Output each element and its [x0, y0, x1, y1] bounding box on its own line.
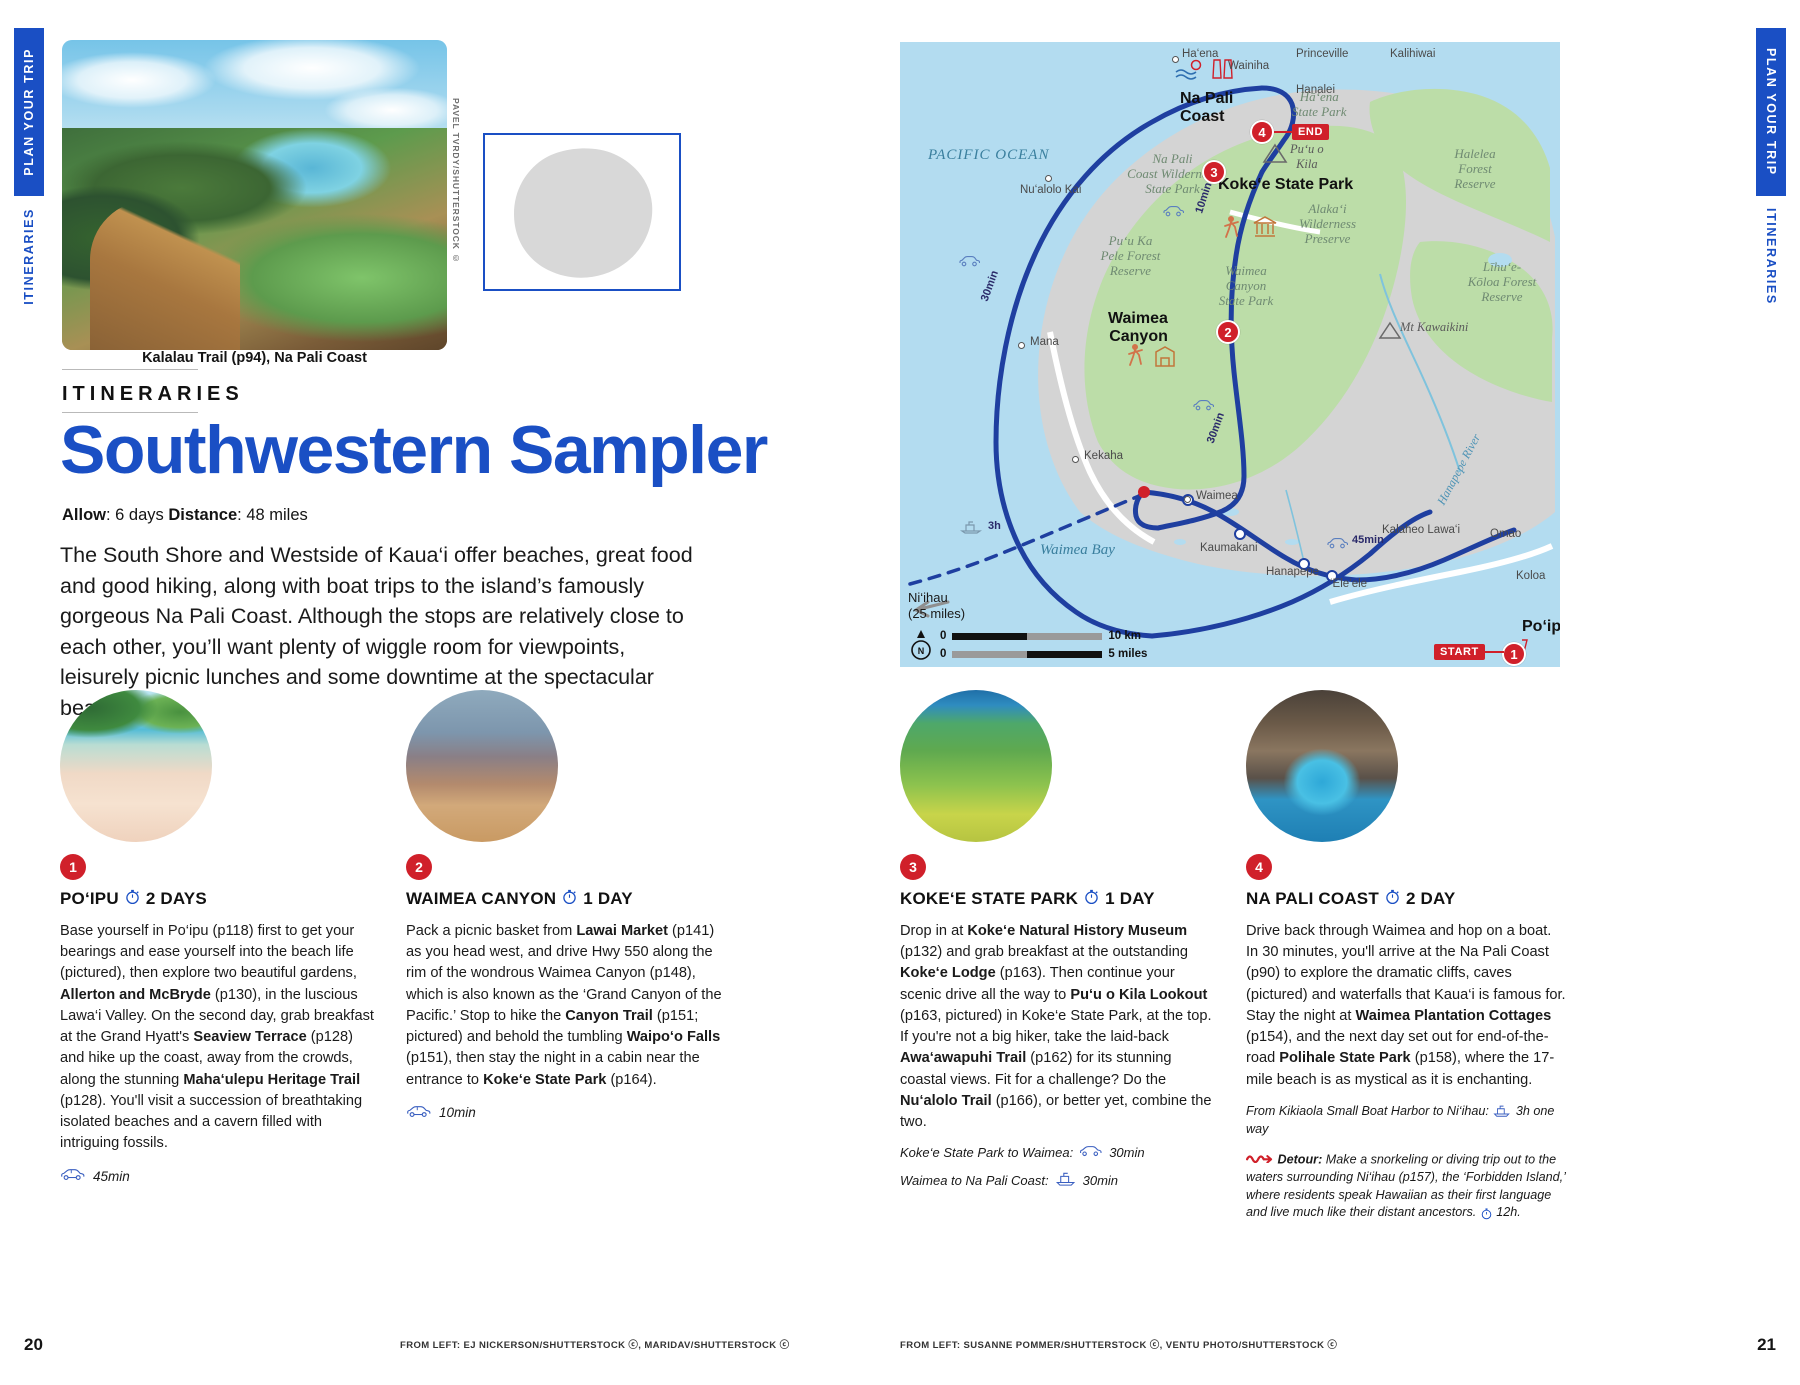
stop-duration-4: 2 DAY — [1406, 889, 1456, 909]
folio-right: 21 — [1757, 1335, 1776, 1355]
map-label-poipu: Po‘ipu — [1522, 618, 1560, 636]
map-town-omao: Omao — [1490, 528, 1521, 540]
stop-number-badge-2: 2 — [406, 854, 432, 880]
hiking-icon — [1220, 214, 1244, 240]
scale-bar-miles — [952, 651, 1102, 658]
car-icon — [406, 1105, 432, 1121]
boat-icon — [960, 520, 982, 534]
hero-photo-kalalau-trail — [62, 40, 447, 350]
town-dot — [1172, 56, 1179, 63]
map-stop-marker-4[interactable]: 4 — [1250, 120, 1274, 144]
map-niihau-note: Ni‘ihau (25 miles) — [908, 590, 965, 623]
side-tab-primary-label: PLAN YOUR TRIP — [22, 48, 36, 176]
transfer-label-3a: Koke‘e State Park to Waimea: — [900, 1145, 1073, 1160]
svg-text:N: N — [918, 646, 925, 656]
stop-name-4: NA PALI COAST — [1246, 889, 1379, 909]
map-town-wainiha: Wainiha — [1228, 60, 1269, 72]
stopwatch-icon — [561, 888, 578, 910]
map-town-princeville: Princeville — [1296, 48, 1348, 60]
stop-transfer-1: 45min — [60, 1168, 380, 1184]
map-label-halelea-forest-reserve: Halelea Forest Reserve — [1430, 147, 1520, 192]
map-stop-marker-3[interactable]: 3 — [1202, 160, 1226, 184]
map-town-kaumakani: Kaumakani — [1200, 542, 1258, 554]
transfer-value-3a: 30min — [1109, 1145, 1144, 1160]
stop-name-2: WAIMEA CANYON — [406, 889, 556, 909]
mountain-peak-icon — [1378, 320, 1402, 340]
stop-body-1: Base yourself in Po‘ipu (p118) first to … — [60, 921, 380, 1154]
stop-name-1: PO‘IPU — [60, 889, 119, 909]
map-town-kalihiwai: Kalihiwai — [1390, 48, 1435, 60]
map-scale-miles: 0 5 miles — [940, 648, 1147, 660]
side-tab-primary-right: PLAN YOUR TRIP — [1756, 28, 1786, 196]
stop-title-2: WAIMEA CANYON 1 DAY — [406, 888, 726, 910]
page-title: Southwestern Sampler — [60, 415, 820, 486]
town-dot — [1018, 342, 1025, 349]
right-page: PLAN YOUR TRIP ITINERARIES — [900, 0, 1800, 1385]
mountain-peak-icon — [1262, 142, 1288, 164]
boat-icon — [1055, 1172, 1077, 1189]
start-connector-line — [1478, 650, 1504, 654]
map-town-haena: Ha‘ena — [1182, 48, 1218, 60]
stops-left: 1 PO‘IPU 2 DAYS Base yourself in Po‘ipu … — [60, 690, 726, 1184]
stop-title-1: PO‘IPU 2 DAYS — [60, 888, 380, 910]
stop-photo-poipu — [60, 690, 212, 842]
map-time-45min: 45min — [1352, 534, 1384, 546]
end-connector-line — [1274, 130, 1294, 134]
map-label-alakai-wilderness-preserve: Alaka‘i Wilderness Preserve — [1270, 202, 1385, 247]
car-icon — [60, 1168, 86, 1184]
distance-label: Distance — [168, 506, 237, 524]
map-town-kekaha: Kekaha — [1084, 450, 1123, 462]
stop-name-3: KOKE‘E STATE PARK — [900, 889, 1078, 909]
stopwatch-icon — [1384, 888, 1401, 910]
stop-number-badge-3: 3 — [900, 854, 926, 880]
map-town-mana: Mana — [1030, 336, 1059, 348]
distance-value: : 48 miles — [237, 506, 308, 524]
town-dot — [1184, 496, 1191, 503]
side-tab-left: PLAN YOUR TRIP ITINERARIES — [14, 28, 44, 305]
stop-photo-napali — [1246, 690, 1398, 842]
transfer-label-3b: Waimea to Na Pali Coast: — [900, 1173, 1049, 1188]
itinerary-meta: Allow: 6 days Distance: 48 miles — [62, 506, 308, 525]
stop-transfer-3b: Waimea to Na Pali Coast: 30min — [900, 1172, 1220, 1189]
scale-bar-km — [952, 633, 1102, 640]
island-locator-box — [483, 133, 681, 291]
allow-label: Allow — [62, 506, 106, 524]
left-page: PLAN YOUR TRIP ITINERARIES PAVEL TVRDY/S… — [0, 0, 900, 1385]
stop-card-1: 1 PO‘IPU 2 DAYS Base yourself in Po‘ipu … — [60, 690, 380, 1184]
side-tab-primary: PLAN YOUR TRIP — [14, 28, 44, 196]
map-town-koloa: Koloa — [1516, 570, 1545, 582]
stop-number-badge-4: 4 — [1246, 854, 1272, 880]
scale-row-miles: 0 5 miles — [940, 648, 1147, 660]
compass-north-icon: N — [908, 628, 934, 662]
section-kicker: ITINERARIES — [62, 383, 244, 406]
stop-duration-1: 2 DAYS — [146, 889, 207, 909]
hero-trail-shape — [90, 200, 240, 350]
lookout-icon — [1152, 344, 1178, 368]
hero-caption: Kalalau Trail (p94), Na Pali Coast — [62, 350, 447, 366]
detour-text-4: Detour: Make a snorkeling or diving trip… — [1246, 1152, 1565, 1220]
car-icon — [958, 254, 980, 267]
stop-photo-waimea-canyon — [406, 690, 558, 842]
stop-card-2: 2 WAIMEA CANYON 1 DAY Pack a picnic bask… — [406, 690, 726, 1184]
car-icon — [1192, 398, 1214, 411]
stopwatch-icon — [124, 888, 141, 910]
hero-photo-wrap: PAVEL TVRDY/SHUTTERSTOCK © — [62, 40, 447, 350]
stop-photo-kokee — [900, 690, 1052, 842]
stop-note-4: From Kikiaola Small Boat Harbor to Ni‘ih… — [1246, 1103, 1566, 1139]
map-scale-km: 0 10 km — [940, 630, 1141, 642]
map-stop-marker-1[interactable]: 1 — [1502, 642, 1526, 666]
map-label-puu-o-kila: Pu‘u o Kila — [1290, 142, 1324, 172]
itinerary-map[interactable]: PACIFIC OCEAN Waimea Bay Hanapepe River … — [900, 42, 1560, 667]
stop-title-3: KOKE‘E STATE PARK 1 DAY — [900, 888, 1220, 910]
map-town-kalaheo-lawai: Kalaheo Lawa‘i — [1382, 524, 1460, 536]
stop-duration-3: 1 DAY — [1105, 889, 1155, 909]
photo-credit-left: FROM LEFT: EJ NICKERSON/SHUTTERSTOCK ⓒ, … — [400, 1337, 790, 1351]
snorkeling-icon — [1174, 58, 1204, 82]
map-label-puu-ka-pele-forest-reserve: Pu‘u Ka Pele Forest Reserve — [1068, 234, 1193, 279]
museum-icon — [1252, 214, 1278, 240]
stop-body-4: Drive back through Waimea and hop on a b… — [1246, 921, 1566, 1091]
side-tab-right: PLAN YOUR TRIP ITINERARIES — [1756, 28, 1786, 305]
scale-row-km: 0 10 km — [940, 630, 1141, 642]
map-label-kokee-state-park: Koke‘e State Park — [1218, 176, 1353, 194]
rule-above-kicker — [62, 369, 198, 370]
side-tab-secondary-label-right: ITINERARIES — [1764, 208, 1778, 305]
town-dot — [1072, 456, 1079, 463]
stopwatch-icon — [1083, 888, 1100, 910]
allow-value: : 6 days — [106, 506, 168, 524]
car-icon — [1079, 1145, 1103, 1160]
stop-body-3: Drop in at Koke‘e Natural History Museum… — [900, 921, 1220, 1133]
stop-transfer-3a: Koke‘e State Park to Waimea: 30min — [900, 1145, 1220, 1160]
stop-title-4: NA PALI COAST 2 DAY — [1246, 888, 1566, 910]
town-dot — [1045, 175, 1052, 182]
car-icon — [1326, 536, 1348, 549]
stop-transfer-2: 10min — [406, 1105, 726, 1121]
stop-card-4: 4 NA PALI COAST 2 DAY Drive back through… — [1246, 690, 1566, 1222]
hiking-icon — [1124, 342, 1148, 368]
map-town-hanalei: Hanalei — [1296, 84, 1335, 96]
map-town-hanapepe: Hanapepe — [1266, 566, 1319, 578]
map-label-waimea-canyon-state-park: Waimea Canyon State Park — [1196, 264, 1296, 309]
stop-transfer-value-2: 10min — [439, 1105, 476, 1120]
map-label-pacific-ocean: PACIFIC OCEAN — [928, 147, 1049, 164]
map-label-lihue-koloa-forest-reserve: Līhu‘e- Kōloa Forest Reserve — [1452, 260, 1552, 305]
map-label-na-pali-coast: Na Pali Coast — [1180, 90, 1233, 125]
squiggle-arrow-icon — [1246, 1151, 1274, 1169]
map-end-pill: END — [1292, 124, 1329, 140]
hero-photo-credit: PAVEL TVRDY/SHUTTERSTOCK © — [451, 98, 461, 264]
transfer-value-3b: 30min — [1083, 1173, 1118, 1188]
map-time-3h-boat: 3h — [988, 520, 1001, 532]
folio-left: 20 — [24, 1335, 43, 1355]
map-stop-marker-2[interactable]: 2 — [1216, 320, 1240, 344]
kauai-island-shape — [484, 130, 684, 300]
stop-number-badge-1: 1 — [60, 854, 86, 880]
map-label-waimea-canyon: Waimea Canyon — [1108, 310, 1168, 345]
side-tab-primary-label-right: PLAN YOUR TRIP — [1764, 48, 1778, 176]
map-label-waimea-bay: Waimea Bay — [1040, 542, 1115, 559]
map-town-eleele: ‘Ele‘ele — [1330, 578, 1367, 590]
map-town-nualolo-kai: Nu‘alolo Kai — [1020, 184, 1081, 196]
stop-detour-4: Detour: Make a snorkeling or diving trip… — [1246, 1151, 1566, 1223]
map-canvas — [900, 42, 1560, 667]
stop-duration-2: 1 DAY — [583, 889, 633, 909]
photo-credit-right: FROM LEFT: SUSANNE POMMER/SHUTTERSTOCK ⓒ… — [900, 1337, 1337, 1351]
stop-transfer-value-1: 45min — [93, 1169, 130, 1184]
side-tab-secondary-label: ITINERARIES — [22, 208, 36, 305]
map-label-mt-kawaikini: Mt Kawaikini — [1400, 320, 1468, 335]
stop-body-2: Pack a picnic basket from Lawai Market (… — [406, 921, 726, 1091]
car-icon — [1162, 204, 1184, 217]
stop-card-3: 3 KOKE‘E STATE PARK 1 DAY Drop in at Kok… — [900, 690, 1220, 1222]
magazine-spread: PLAN YOUR TRIP ITINERARIES PAVEL TVRDY/S… — [0, 0, 1800, 1385]
stops-right: 3 KOKE‘E STATE PARK 1 DAY Drop in at Kok… — [900, 690, 1566, 1222]
map-town-waimea: Waimea — [1196, 490, 1238, 502]
